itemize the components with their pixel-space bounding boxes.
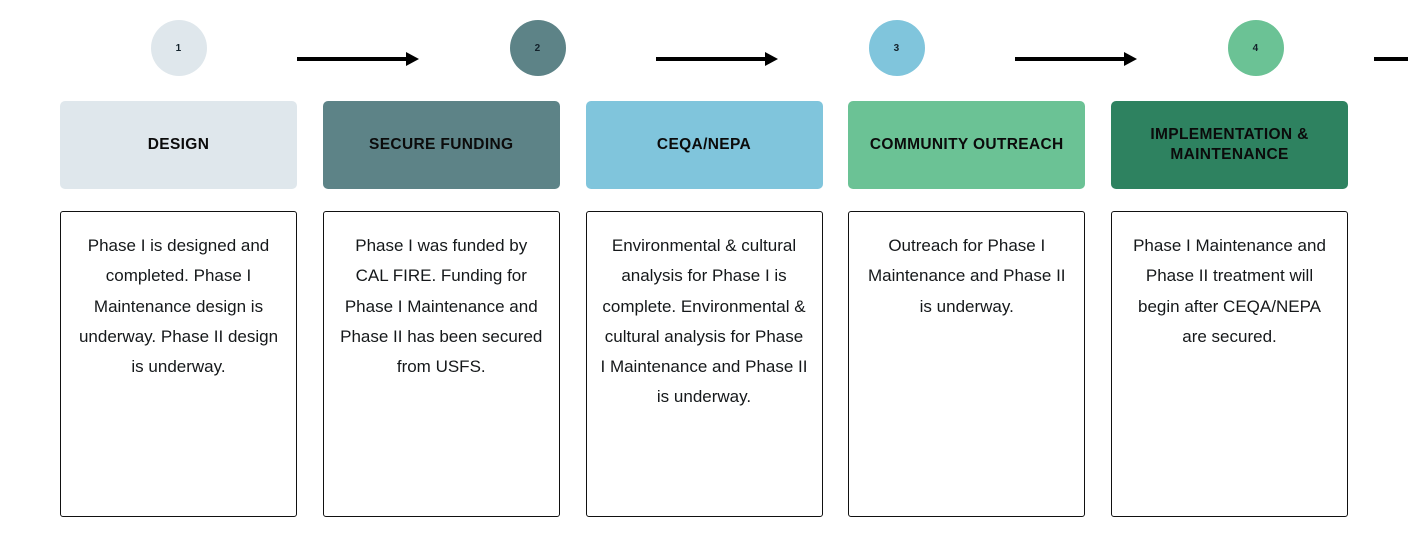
stage-header-label: SECURE FUNDING bbox=[369, 135, 513, 155]
step-circle-cell-2: 2 bbox=[419, 0, 656, 96]
arrow-head bbox=[406, 52, 419, 66]
stage-header-label: CEQA/NEPA bbox=[657, 135, 751, 155]
stage-header-label: DESIGN bbox=[148, 135, 210, 155]
arrow-cell-3 bbox=[1015, 0, 1137, 96]
step-circle-3: 3 bbox=[869, 20, 925, 76]
stage-descriptions-row: Phase I is designed and completed. Phase… bbox=[60, 211, 1348, 517]
stage-description-text: Environmental & cultural analysis for Ph… bbox=[601, 231, 808, 413]
step-number-1: 1 bbox=[176, 43, 182, 54]
step-circle-2: 2 bbox=[510, 20, 566, 76]
stage-description-text: Phase I was funded by CAL FIRE. Funding … bbox=[338, 231, 545, 382]
arrow-icon-1 bbox=[297, 52, 419, 66]
step-number-2: 2 bbox=[535, 43, 541, 54]
stage-header-label: COMMUNITY OUTREACH bbox=[870, 135, 1064, 155]
arrow-shaft bbox=[656, 57, 768, 61]
step-circle-1: 1 bbox=[151, 20, 207, 76]
arrow-cell-2 bbox=[656, 0, 778, 96]
stage-description-box-ceqa-nepa: Environmental & cultural analysis for Ph… bbox=[586, 211, 823, 517]
arrow-shaft bbox=[1374, 57, 1408, 61]
stage-description-box-secure-funding: Phase I was funded by CAL FIRE. Funding … bbox=[323, 211, 560, 517]
stage-description-text: Outreach for Phase I Maintenance and Pha… bbox=[863, 231, 1070, 322]
arrow-shaft bbox=[1015, 57, 1127, 61]
step-number-3: 3 bbox=[894, 43, 900, 54]
step-number-4: 4 bbox=[1253, 43, 1259, 54]
stage-header-label: IMPLEMENTATION & MAINTENANCE bbox=[1119, 125, 1340, 166]
arrow-cell-4 bbox=[1374, 0, 1408, 96]
step-circles-row: 1 2 3 bbox=[60, 0, 1348, 96]
stage-header-community-outreach: COMMUNITY OUTREACH bbox=[848, 101, 1085, 189]
stage-header-ceqa-nepa: CEQA/NEPA bbox=[586, 101, 823, 189]
arrow-icon-2 bbox=[656, 52, 778, 66]
stage-description-text: Phase I is designed and completed. Phase… bbox=[75, 231, 282, 382]
stage-header-implementation-maintenance: IMPLEMENTATION & MAINTENANCE bbox=[1111, 101, 1348, 189]
stage-header-design: DESIGN bbox=[60, 101, 297, 189]
step-circle-4: 4 bbox=[1228, 20, 1284, 76]
arrow-icon-4 bbox=[1374, 52, 1408, 66]
process-flow-diagram: 1 2 3 bbox=[0, 0, 1408, 550]
arrow-shaft bbox=[297, 57, 409, 61]
arrow-head bbox=[765, 52, 778, 66]
arrow-icon-3 bbox=[1015, 52, 1137, 66]
step-circle-cell-4: 4 bbox=[1137, 0, 1374, 96]
stage-header-secure-funding: SECURE FUNDING bbox=[323, 101, 560, 189]
stage-description-box-implementation-maintenance: Phase I Maintenance and Phase II treatme… bbox=[1111, 211, 1348, 517]
arrow-head bbox=[1124, 52, 1137, 66]
stage-description-text: Phase I Maintenance and Phase II treatme… bbox=[1126, 231, 1333, 352]
stage-description-box-design: Phase I is designed and completed. Phase… bbox=[60, 211, 297, 517]
stage-headers-row: DESIGN SECURE FUNDING CEQA/NEPA COMMUNIT… bbox=[60, 101, 1348, 189]
arrow-cell-1 bbox=[297, 0, 419, 96]
step-circle-cell-3: 3 bbox=[778, 0, 1015, 96]
step-circle-cell-1: 1 bbox=[60, 0, 297, 96]
stage-description-box-community-outreach: Outreach for Phase I Maintenance and Pha… bbox=[848, 211, 1085, 517]
